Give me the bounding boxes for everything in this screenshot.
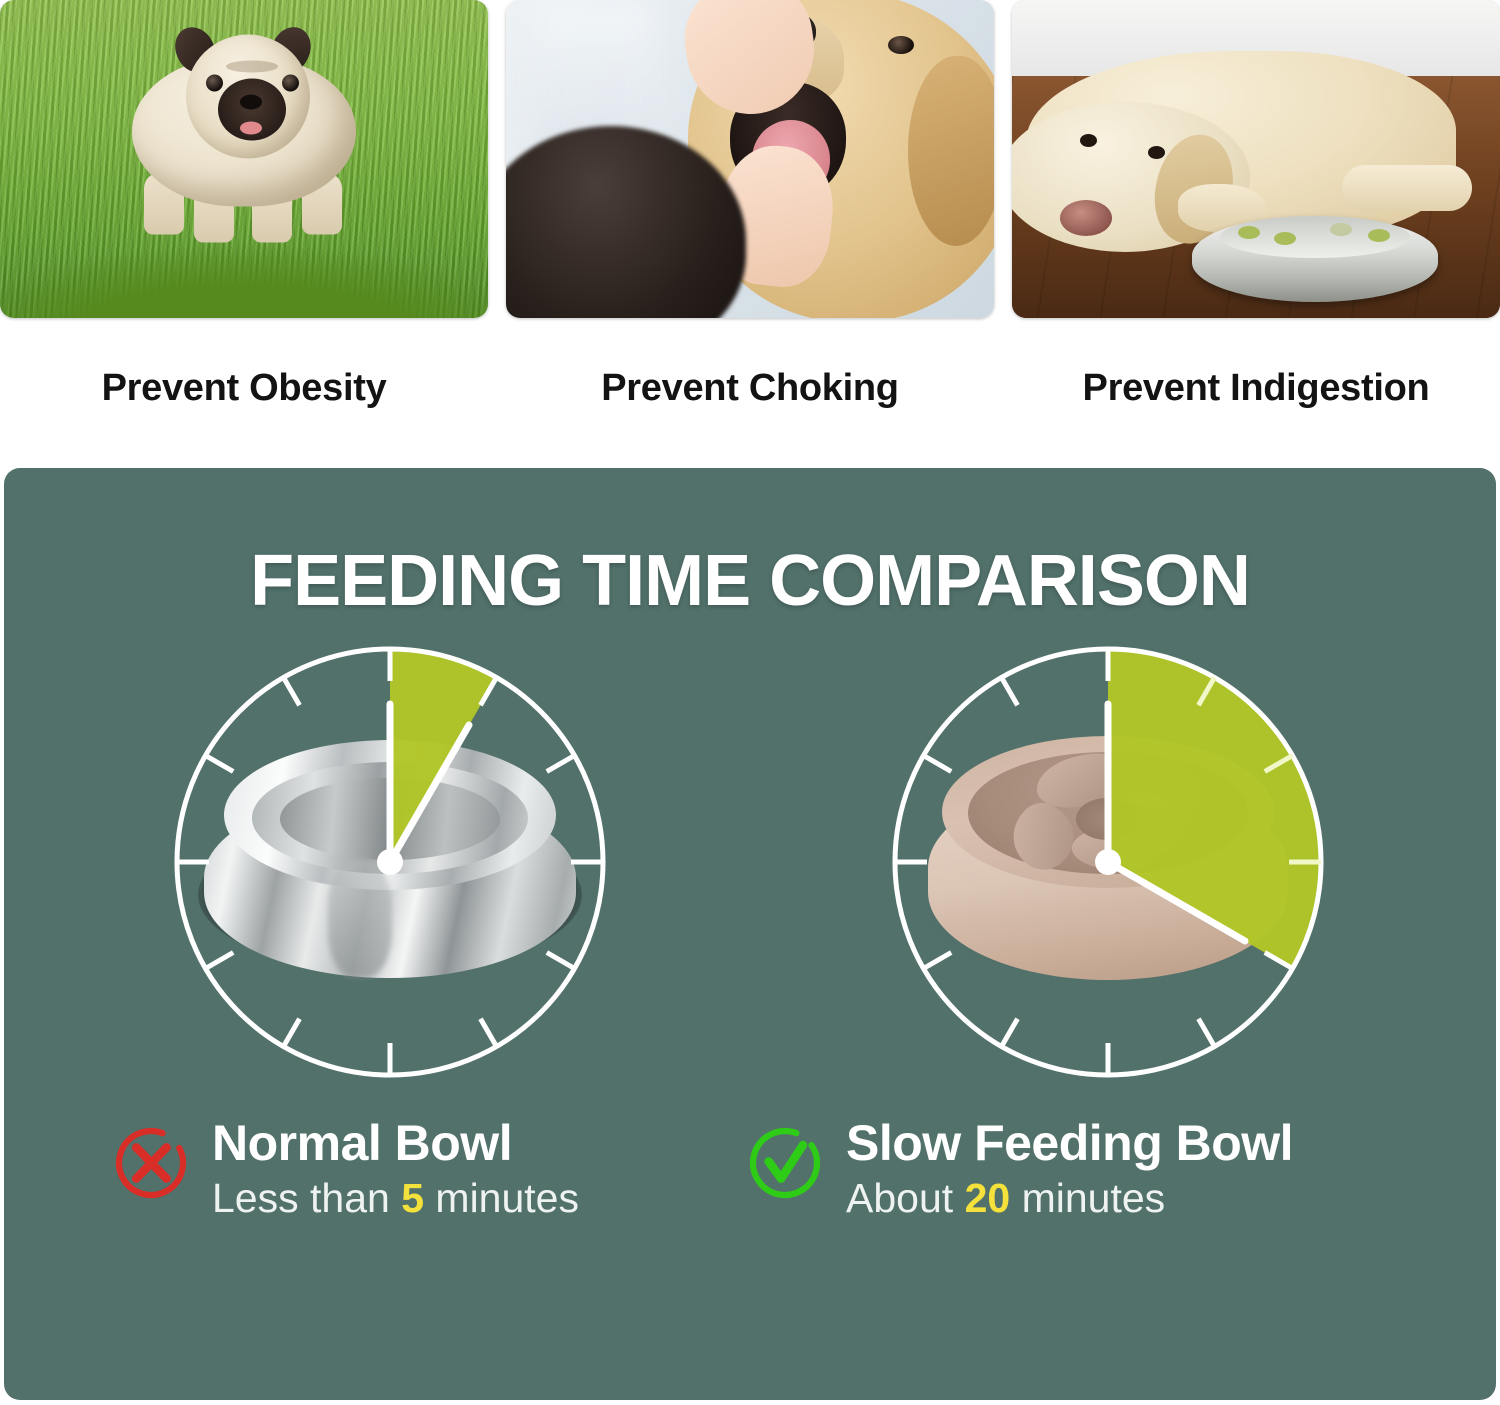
check-icon <box>746 1124 824 1202</box>
pug-illustration <box>114 23 374 238</box>
result-title-slow: Slow Feeding Bowl <box>846 1118 1293 1169</box>
feeding-time-comparison-panel: FEEDING TIME COMPARISON <box>4 468 1496 1400</box>
retriever-ear <box>908 56 994 246</box>
clock-slow-feeding-bowl <box>890 644 1326 1080</box>
page-title: FEEDING TIME COMPARISON <box>4 540 1496 622</box>
caption-prevent-choking: Prevent Choking <box>506 318 994 458</box>
clock-normal-bowl <box>172 644 608 1080</box>
clock-dial-normal <box>172 644 608 1080</box>
benefit-card-choking[interactable] <box>506 0 994 318</box>
result-slow-feeding-bowl: Slow Feeding Bowl About 20 minutes <box>746 1118 1293 1226</box>
clock-comparison-row <box>4 644 1496 1114</box>
benefit-captions: Prevent Obesity Prevent Choking Prevent … <box>0 318 1500 458</box>
labrador-front-paw <box>1342 165 1472 211</box>
result-subtitle-normal: Less than 5 minutes <box>212 1171 579 1226</box>
subtitle-suffix: minutes <box>1022 1175 1166 1221</box>
clock-hub <box>377 849 403 875</box>
pug-eye-left <box>206 75 223 92</box>
subtitle-value: 20 <box>965 1175 1011 1221</box>
kibble <box>1330 223 1352 236</box>
result-subtitle-slow: About 20 minutes <box>846 1171 1293 1226</box>
indigestion-photo <box>1012 0 1500 318</box>
benefits-gallery <box>0 0 1500 318</box>
clock-dial-slow <box>890 644 1326 1080</box>
benefit-card-obesity[interactable] <box>0 0 488 318</box>
pug-tongue <box>240 122 262 135</box>
caption-prevent-indigestion: Prevent Indigestion <box>1012 318 1500 458</box>
caption-prevent-obesity: Prevent Obesity <box>0 318 488 458</box>
pug-eye-right <box>282 75 299 92</box>
choking-photo <box>506 0 994 318</box>
clock-hub <box>1095 849 1121 875</box>
subtitle-value: 5 <box>401 1175 424 1221</box>
pug-nose <box>240 95 262 110</box>
kibble <box>1368 229 1390 242</box>
result-title-normal: Normal Bowl <box>212 1118 579 1169</box>
pug-photo <box>0 0 488 318</box>
comparison-results: Normal Bowl Less than 5 minutes Slow Fee… <box>4 1118 1496 1268</box>
benefit-card-indigestion[interactable] <box>1012 0 1500 318</box>
subtitle-prefix: Less than <box>212 1175 390 1221</box>
pug-wrinkle <box>226 61 278 73</box>
retriever-eye <box>888 36 914 54</box>
kibble <box>1238 226 1260 239</box>
subtitle-suffix: minutes <box>435 1175 579 1221</box>
labrador-eye-left <box>1080 134 1097 147</box>
result-normal-bowl: Normal Bowl Less than 5 minutes <box>112 1118 579 1226</box>
subtitle-prefix: About <box>846 1175 953 1221</box>
cross-icon <box>112 1124 190 1202</box>
